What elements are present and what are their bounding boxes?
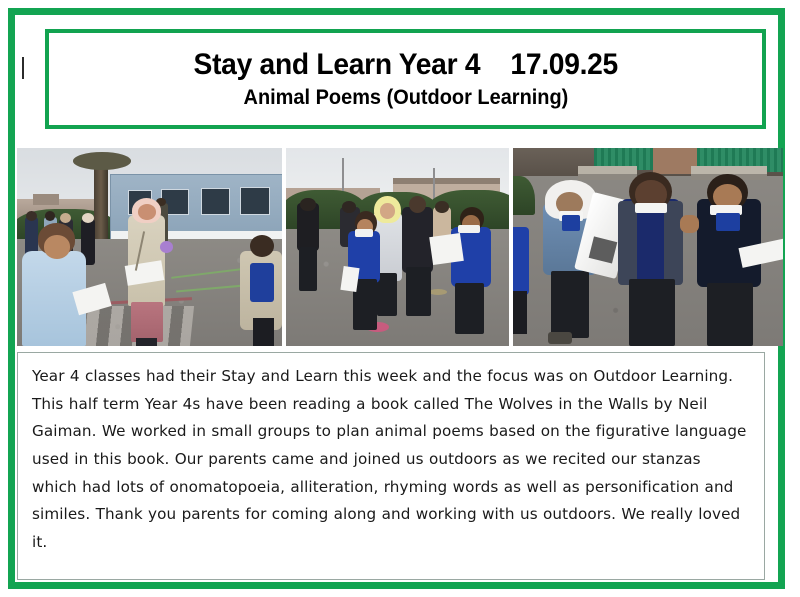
newsletter-page: Stay and Learn Year 4 17.09.25 Animal Po… bbox=[0, 0, 800, 597]
body-paragraph: Year 4 classes had their Stay and Learn … bbox=[32, 363, 750, 557]
photo-strip bbox=[17, 148, 783, 346]
body-text-box: Year 4 classes had their Stay and Learn … bbox=[17, 352, 765, 580]
page-subtitle: Animal Poems (Outdoor Learning) bbox=[243, 85, 568, 110]
photo-poem-performance bbox=[513, 148, 783, 346]
text-cursor-artifact bbox=[22, 57, 24, 79]
page-title: Stay and Learn Year 4 17.09.25 bbox=[193, 48, 617, 82]
header-box: Stay and Learn Year 4 17.09.25 Animal Po… bbox=[45, 29, 766, 129]
photo-children-reciting bbox=[286, 148, 509, 346]
photo-playground-reading bbox=[17, 148, 282, 346]
